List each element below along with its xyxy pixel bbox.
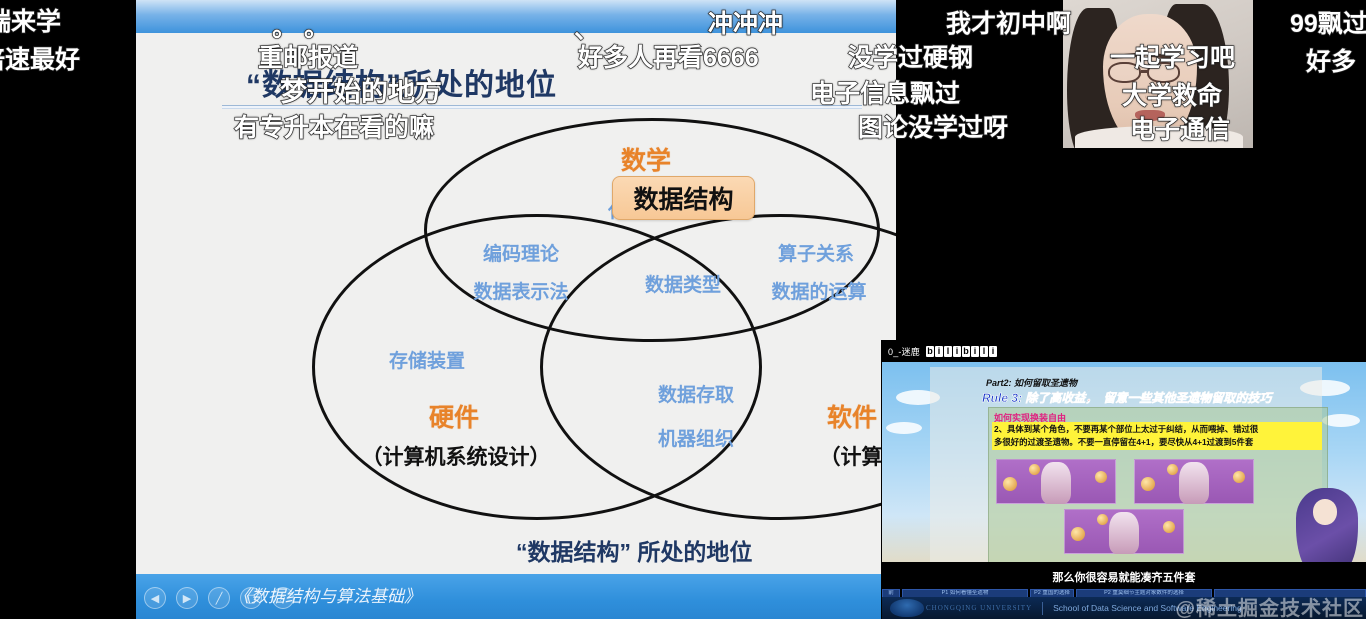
artifact-screenshot bbox=[1064, 509, 1184, 554]
venn-center-data-structure: 数据结构 bbox=[612, 176, 755, 220]
chevron-left-icon: ◀ bbox=[151, 592, 159, 605]
danmaku-comment: 端来学 bbox=[0, 2, 61, 38]
site-watermark: @稀土掘金技术社区 bbox=[1175, 592, 1364, 619]
venn-label-operator-relation: 算子关系 bbox=[753, 239, 879, 266]
pip-rule-heading: Rule 3: 除了高收益， 留意一些其他圣遗物留取的技巧 bbox=[982, 389, 1271, 406]
artifact-screenshot bbox=[1134, 459, 1254, 504]
venn-label-software-sub: （计算机程 bbox=[772, 441, 896, 471]
magnifier-icon: ⌕ bbox=[280, 592, 286, 605]
glasses-lens-right-icon bbox=[1147, 62, 1180, 83]
chevron-right-icon: ▶ bbox=[183, 592, 191, 605]
venn-label-storage-device: 存储装置 bbox=[362, 346, 492, 373]
pip-body-line-1: 2、具体到某个角色，不要再某个部位上太过于纠结，从而喂掉、错过很 bbox=[994, 423, 1320, 436]
venn-label-data-representation: 数据表示法 bbox=[437, 277, 605, 304]
university-crest-icon bbox=[890, 599, 924, 617]
slide-footer-course-title: 《数据结构与算法基础》 bbox=[234, 582, 421, 607]
venn-label-data-type: 数据类型 bbox=[620, 270, 746, 297]
artifact-screenshot bbox=[996, 459, 1116, 504]
pip-body-line-2: 多很好的过渡圣遗物。不要一直停留在4+1，要尽快从4+1过渡到5件套 bbox=[994, 436, 1320, 449]
pip-video-surface[interactable]: Part2: 如何留取圣遗物 Rule 3: 除了高收益， 留意一些其他圣遗物留… bbox=[882, 362, 1366, 576]
teacher-webcam-overlay bbox=[1063, 0, 1253, 148]
pip-subtitle-text: 那么你很容易就能凑齐五件套 bbox=[882, 569, 1366, 585]
logo-letter: b bbox=[962, 346, 970, 357]
pip-title-bar: 0_-迷鹿 b i l i b i l i bbox=[882, 341, 1366, 362]
logo-letter: l bbox=[980, 346, 988, 357]
pen-icon: ╱ bbox=[216, 592, 223, 605]
logo-letter: i bbox=[989, 346, 997, 357]
logo-letter: i bbox=[935, 346, 943, 357]
danmaku-comment: 我才初中啊 bbox=[946, 4, 1071, 40]
pip-inner-slide: Part2: 如何留取圣遗物 Rule 3: 除了高收益， 留意一些其他圣遗物留… bbox=[930, 367, 1322, 570]
pip-highlighted-body: 2、具体到某个角色，不要再某个部位上太过于纠结，从而喂掉、错过很 多很好的过渡圣… bbox=[992, 422, 1322, 450]
pen-tool-button[interactable]: ╱ bbox=[208, 587, 230, 609]
picture-in-picture-window[interactable]: 0_-迷鹿 b i l i b i l i Part2: 如何留取圣遗物 Rul… bbox=[882, 341, 1366, 619]
footer-divider bbox=[1042, 602, 1043, 615]
webcam-shoulders bbox=[1075, 126, 1243, 148]
venn-label-data-operation: 数据的运算 bbox=[744, 277, 894, 304]
prev-slide-button[interactable]: ◀ bbox=[144, 587, 166, 609]
glasses-bridge-icon bbox=[1141, 70, 1149, 73]
slide-bottom-caption: “数据结构” 所处的地位 bbox=[516, 533, 752, 567]
logo-letter: l bbox=[944, 346, 952, 357]
cloud-decoration bbox=[886, 422, 922, 434]
pip-uploader-name: 0_-迷鹿 bbox=[888, 345, 920, 358]
grid-menu-icon: ▢ bbox=[246, 592, 256, 605]
venn-label-data-access: 数据存取 bbox=[631, 380, 761, 407]
venn-label-software-title: 软件 bbox=[812, 398, 892, 434]
pip-rule-text: 除了高收益， 留意一些其他圣遗物留取的技巧 bbox=[1025, 391, 1271, 405]
slide-title: “数据结构”所处的地位 bbox=[246, 60, 846, 104]
logo-letter: i bbox=[953, 346, 961, 357]
video-stage: “数据结构”所处的地位 数学 代数系统 编码理论 数据表示法 算子关系 数据的运… bbox=[0, 0, 1366, 619]
zoom-tool-button[interactable]: ⌕ bbox=[272, 587, 294, 609]
presentation-slide: “数据结构”所处的地位 数学 代数系统 编码理论 数据表示法 算子关系 数据的运… bbox=[136, 0, 896, 619]
danmaku-comment: 好多 bbox=[1306, 42, 1356, 78]
danmaku-comment: 99飘过 bbox=[1290, 4, 1366, 40]
logo-letter: i bbox=[971, 346, 979, 357]
university-name: CHONGQING UNIVERSITY bbox=[926, 604, 1032, 612]
venn-label-coding-theory: 编码理论 bbox=[456, 239, 586, 266]
pip-rule-prefix: Rule 3: bbox=[982, 391, 1022, 405]
webcam-nose bbox=[1145, 88, 1154, 101]
logo-letter: b bbox=[926, 346, 934, 357]
venn-label-math-title: 数学 bbox=[606, 141, 686, 177]
venn-label-hardware-sub: （计算机系统设计） bbox=[336, 441, 576, 471]
slide-title-underline bbox=[222, 105, 862, 109]
venn-label-hardware-title: 硬件 bbox=[414, 398, 494, 434]
webcam-mouth bbox=[1135, 110, 1165, 121]
bilibili-logo-icon: b i l i b i l i bbox=[926, 346, 997, 357]
next-slide-button[interactable]: ▶ bbox=[176, 587, 198, 609]
slide-header-band bbox=[136, 0, 896, 33]
pip-part-heading: Part2: 如何留取圣遗物 bbox=[986, 376, 1077, 389]
danmaku-comment: 倍速最好 bbox=[0, 40, 80, 76]
glasses-lens-left-icon bbox=[1108, 62, 1141, 83]
venn-label-machine-organization: 机器组织 bbox=[631, 424, 761, 451]
slide-menu-button[interactable]: ▢ bbox=[240, 587, 262, 609]
